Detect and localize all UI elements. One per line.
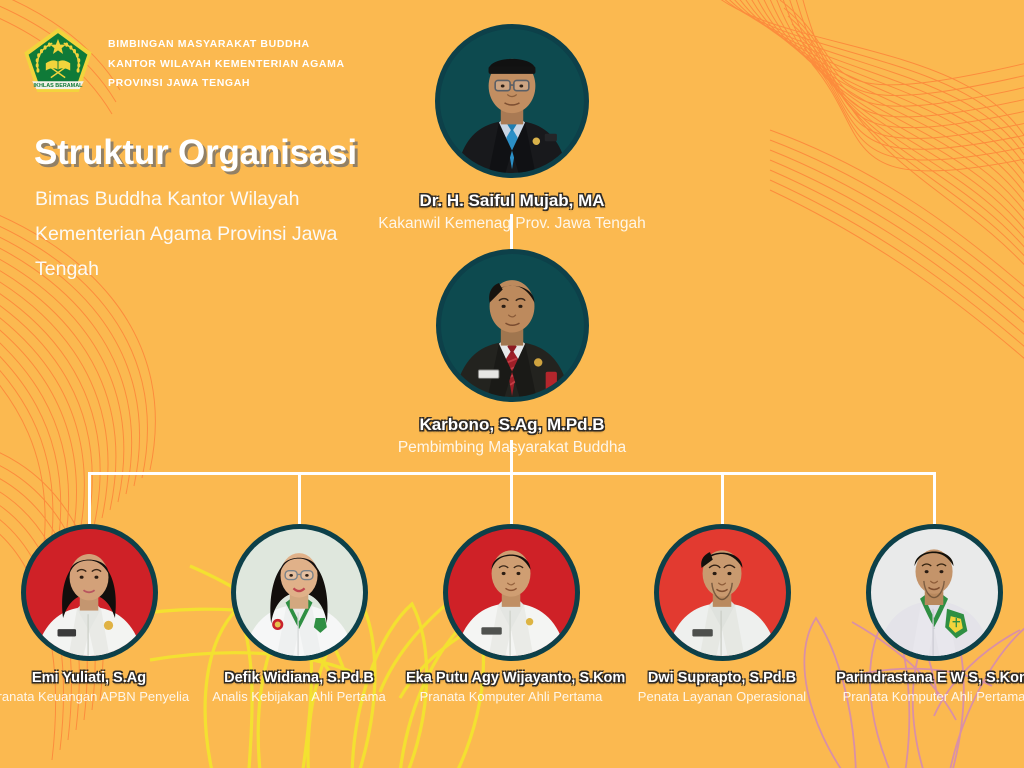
person-photo-defik-widiana (236, 529, 363, 656)
person-photo-dwi-suprapto (659, 529, 786, 656)
org-node-level3-parindrastana[interactable]: Parindrastana E W S, S.Kom Pranata Kompu… (829, 524, 1024, 704)
org-node-level3-eka-putu[interactable]: Eka Putu Agy Wijayanto, S.Kom Pranata Ko… (406, 524, 616, 704)
org-node-level3-emi-yuliati[interactable]: Emi Yuliati, S.Ag Pranata Keuangan APBN … (0, 524, 194, 704)
person-role: Analis Kebijakan Ahli Pertama (194, 689, 404, 704)
person-role: Kakanwil Kemenag Prov. Jawa Tengah (0, 215, 1024, 233)
person-role: Penata Layanan Operasional (617, 689, 827, 704)
connector-drop-3 (510, 472, 513, 530)
org-node-level3-dwi-suprapto[interactable]: Dwi Suprapto, S.Pd.B Penata Layanan Oper… (617, 524, 827, 704)
avatar (654, 524, 791, 661)
person-name: Karbono, S.Ag, M.Pd.B (0, 415, 1024, 435)
org-node-level3-defik-widiana[interactable]: Defik Widiana, S.Pd.B Analis Kebijakan A… (194, 524, 404, 704)
person-name: Dwi Suprapto, S.Pd.B (617, 670, 827, 686)
person-photo-parindrastana-e-w-s (871, 529, 998, 656)
person-photo-emi-yuliati (26, 529, 153, 656)
connector-drop-2 (298, 472, 301, 526)
connector-drop-4 (721, 472, 724, 526)
person-role: Pranata Keuangan APBN Penyelia (0, 689, 194, 704)
person-photo-eka-putu-agy-wijayanto (448, 529, 575, 656)
org-node-level2-pembimbing[interactable]: Karbono, S.Ag, M.Pd.B Pembimbing Masyara… (0, 249, 1024, 457)
avatar (21, 524, 158, 661)
person-photo-saiful-mujab (440, 29, 584, 173)
person-name: Dr. H. Saiful Mujab, MA (0, 191, 1024, 211)
connector-drop-1 (88, 472, 91, 530)
person-name: Emi Yuliati, S.Ag (0, 670, 194, 686)
connector-drop-5 (933, 472, 936, 526)
person-role: Pranata Komputer Ahli Pertama (829, 689, 1024, 704)
avatar (435, 24, 589, 178)
person-role: Pembimbing Masyarakat Buddha (0, 439, 1024, 457)
person-photo-karbono (441, 254, 584, 397)
avatar (231, 524, 368, 661)
person-name: Eka Putu Agy Wijayanto, S.Kom (406, 670, 616, 686)
org-node-level1-kakanwil[interactable]: Dr. H. Saiful Mujab, MA Kakanwil Kemenag… (0, 24, 1024, 233)
avatar (436, 249, 589, 402)
avatar (443, 524, 580, 661)
avatar (866, 524, 1003, 661)
person-name: Parindrastana E W S, S.Kom (829, 670, 1024, 686)
person-role: Pranata Komputer Ahli Pertama (406, 689, 616, 704)
person-name: Defik Widiana, S.Pd.B (194, 670, 404, 686)
